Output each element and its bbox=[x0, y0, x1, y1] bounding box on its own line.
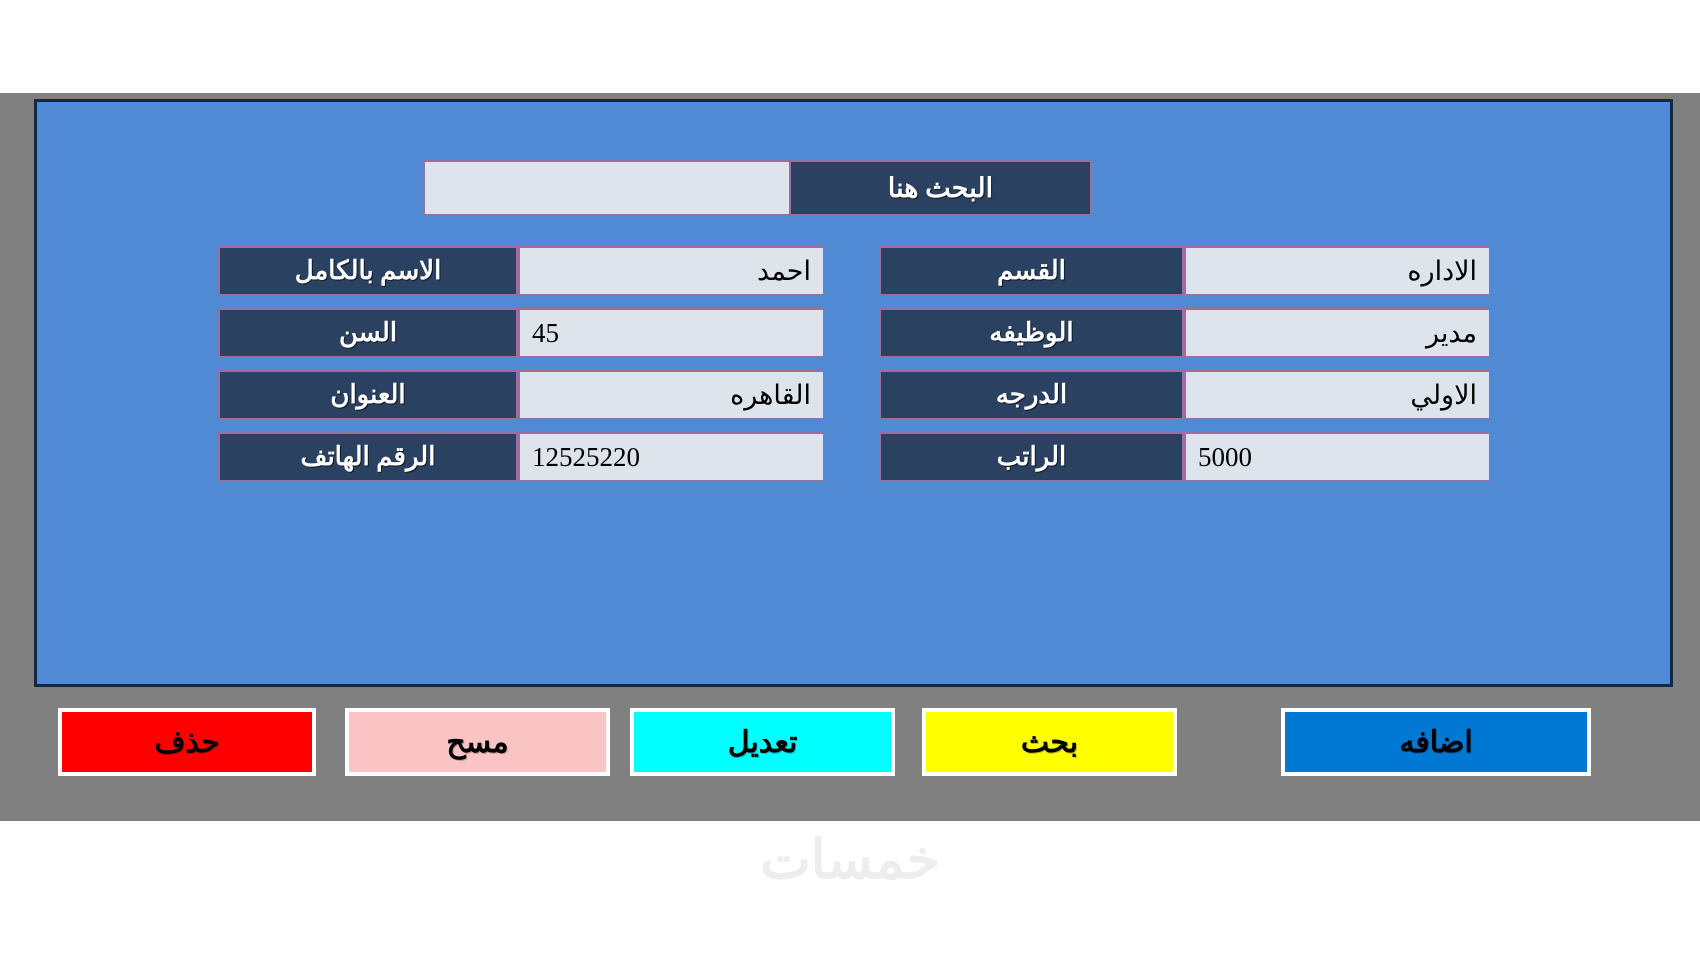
delete-button[interactable]: حذف bbox=[58, 708, 316, 776]
search-input[interactable] bbox=[423, 160, 789, 216]
department-input[interactable]: الاداره bbox=[1184, 246, 1489, 296]
watermark-text: خمسات bbox=[0, 828, 1700, 891]
phone-label: الرقم الهاتف bbox=[218, 432, 518, 482]
phone-input[interactable]: 12525220 bbox=[518, 432, 823, 482]
salary-label: الراتب bbox=[879, 432, 1184, 482]
address-input[interactable]: القاهره bbox=[518, 370, 823, 420]
add-button[interactable]: اضافه bbox=[1281, 708, 1591, 776]
age-label: السن bbox=[218, 308, 518, 358]
action-button-bar: اضافه بحث تعديل مسح حذف bbox=[0, 700, 1700, 800]
job-input[interactable]: مدير bbox=[1184, 308, 1489, 358]
fields-column-right: احمد الاسم بالكامل 45 السن القاهره العنو… bbox=[218, 246, 823, 482]
clear-button[interactable]: مسح bbox=[345, 708, 610, 776]
address-label: العنوان bbox=[218, 370, 518, 420]
grade-label: الدرجه bbox=[879, 370, 1184, 420]
field-phone: 12525220 الرقم الهاتف bbox=[218, 432, 823, 482]
department-label: القسم bbox=[879, 246, 1184, 296]
field-full-name: احمد الاسم بالكامل bbox=[218, 246, 823, 296]
salary-input[interactable]: 5000 bbox=[1184, 432, 1489, 482]
field-age: 45 السن bbox=[218, 308, 823, 358]
search-row: البحث هنا bbox=[423, 160, 1092, 216]
field-job: مدير الوظيفه bbox=[879, 308, 1489, 358]
fields-column-left: الاداره القسم مدير الوظيفه الاولي الدرجه… bbox=[879, 246, 1489, 482]
full-name-label: الاسم بالكامل bbox=[218, 246, 518, 296]
fields-grid: الاداره القسم مدير الوظيفه الاولي الدرجه… bbox=[57, 246, 1650, 482]
full-name-input[interactable]: احمد bbox=[518, 246, 823, 296]
grade-input[interactable]: الاولي bbox=[1184, 370, 1489, 420]
field-department: الاداره القسم bbox=[879, 246, 1489, 296]
job-label: الوظيفه bbox=[879, 308, 1184, 358]
field-salary: 5000 الراتب bbox=[879, 432, 1489, 482]
employee-form-panel: البحث هنا الاداره القسم مدير الوظيفه الا… bbox=[34, 99, 1673, 687]
field-address: القاهره العنوان bbox=[218, 370, 823, 420]
field-grade: الاولي الدرجه bbox=[879, 370, 1489, 420]
age-input[interactable]: 45 bbox=[518, 308, 823, 358]
edit-button[interactable]: تعديل bbox=[630, 708, 895, 776]
search-button[interactable]: بحث bbox=[922, 708, 1177, 776]
search-label: البحث هنا bbox=[789, 160, 1092, 216]
